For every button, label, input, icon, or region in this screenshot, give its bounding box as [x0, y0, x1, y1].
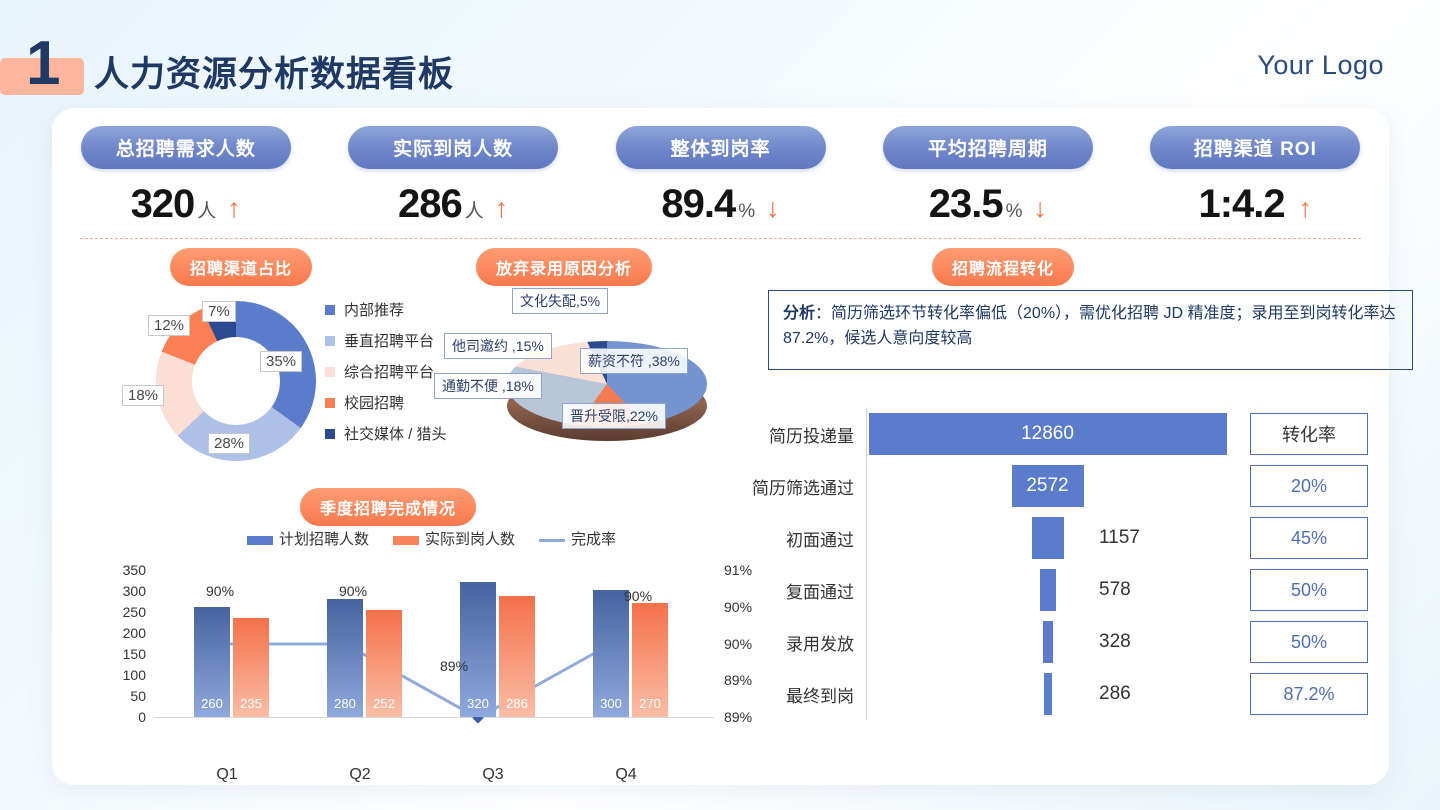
kpi-value-group: 89.4 % ↓	[661, 182, 779, 227]
header-number: 1	[26, 28, 58, 99]
x-tick-q2: Q2	[320, 766, 400, 784]
funnel-value: 328	[1099, 631, 1131, 653]
legend-item: 内部推荐	[325, 299, 447, 320]
legend-item-actual: 实际到岗人数	[393, 528, 515, 549]
kpi-value-group: 286 人 ↑	[398, 182, 508, 227]
funnel-value: 1157	[1099, 527, 1140, 549]
funnel-stage-label: 简历筛选通过	[748, 474, 866, 499]
x-tick-q1: Q1	[187, 766, 267, 784]
legend-item-plan: 计划招聘人数	[247, 528, 369, 549]
pie-label-commute: 通勤不便 ,18%	[434, 373, 542, 399]
funnel-row: 录用发放 328 50%	[748, 616, 1388, 668]
funnel-bar: 12860	[869, 413, 1227, 455]
funnel-rate: 87.2%	[1250, 673, 1368, 715]
trend-up-icon: ↑	[1299, 195, 1313, 222]
rate-label-q2: 90%	[339, 583, 367, 599]
bar-value: 260	[194, 696, 230, 711]
legend-swatch	[325, 367, 335, 377]
dashboard-card: 总招聘需求人数 320 人 ↑ 实际到岗人数 286 人 ↑ 整体到岗率 89.…	[52, 108, 1389, 785]
legend-label: 完成率	[571, 531, 616, 548]
bar-value: 252	[366, 696, 402, 711]
funnel-bar-area: 2572	[866, 460, 1228, 512]
funnel-row: 初面通过 1157 45%	[748, 512, 1388, 564]
bar-group-q3: 320 286	[460, 582, 535, 717]
rate-label-q1: 90%	[206, 583, 234, 599]
decline-reason-chart: 文化失配,5% 他司邀约 ,15% 通勤不便 ,18% 薪资不符 ,38% 晋升…	[452, 293, 782, 493]
funnel-bar-area: 578	[866, 564, 1228, 616]
bar-plan: 280	[327, 599, 363, 717]
donut-label-2: 18%	[122, 385, 164, 406]
bar-actual: 270	[632, 603, 668, 717]
legend-label: 计划招聘人数	[279, 531, 369, 548]
kpi-card-onboard-rate: 整体到岗率 89.4 % ↓	[587, 126, 854, 238]
legend-swatch	[325, 429, 335, 439]
legend-swatch	[325, 305, 335, 315]
kpi-value-group: 320 人 ↑	[131, 182, 241, 227]
kpi-unit: %	[1006, 201, 1023, 223]
kpi-label: 总招聘需求人数	[81, 126, 291, 169]
y2-tick: 89%	[724, 709, 752, 725]
legend-label: 垂直招聘平台	[344, 330, 434, 351]
analysis-prefix: 分析	[783, 305, 815, 322]
legend-item: 综合招聘平台	[325, 361, 447, 382]
funnel-bar: 2572	[1012, 465, 1084, 507]
bar-plot-area: 350 300 250 200 150 100 50 0 91% 90% 90%…	[154, 570, 714, 718]
funnel-row: 简历筛选通过 2572 20%	[748, 460, 1388, 512]
funnel-bar-area: 12860	[866, 408, 1228, 460]
section-title-decline-reason: 放弃录用原因分析	[476, 248, 652, 286]
legend-swatch	[393, 536, 419, 545]
bar-value: 286	[499, 696, 535, 711]
analysis-box: 分析：简历筛选环节转化率偏低（20%），需优化招聘 JD 精准度；录用至到岗转化…	[768, 290, 1413, 370]
quarterly-bar-chart: 计划招聘人数 实际到岗人数 完成率 350 300 250 200 150 10…	[112, 528, 772, 768]
donut-label-0: 35%	[260, 351, 302, 372]
bar-value: 300	[593, 696, 629, 711]
donut-label-1: 28%	[208, 433, 250, 454]
y-tick: 50	[108, 688, 146, 704]
kpi-card-channel-roi: 招聘渠道 ROI 1:4.2 ↑	[1122, 126, 1389, 238]
bar-value: 270	[632, 696, 668, 711]
kpi-divider	[80, 238, 1361, 239]
funnel-row: 复面通过 578 50%	[748, 564, 1388, 616]
pie-label-culture: 文化失配,5%	[512, 288, 608, 314]
bar-actual: 235	[233, 618, 269, 717]
legend-swatch	[247, 536, 273, 545]
y2-tick: 90%	[724, 636, 752, 652]
x-tick-q3: Q3	[453, 766, 533, 784]
funnel-value: 578	[1099, 579, 1131, 601]
trend-up-icon: ↑	[227, 195, 241, 222]
bar-plan: 260	[194, 607, 230, 717]
funnel-bar-area: 328	[866, 616, 1228, 668]
legend-label: 社交媒体 / 猎头	[344, 423, 447, 444]
funnel-rate: 50%	[1250, 569, 1368, 611]
bar-value: 235	[233, 696, 269, 711]
y-tick: 150	[108, 646, 146, 662]
logo: Your Logo	[1257, 50, 1384, 81]
donut-label-3: 12%	[148, 315, 190, 336]
section-title-channel-share: 招聘渠道占比	[170, 248, 312, 286]
kpi-value: 286	[398, 182, 462, 227]
y-tick: 200	[108, 625, 146, 641]
funnel-row: 最终到岗 286 87.2%	[748, 668, 1388, 720]
legend-item: 校园招聘	[325, 392, 447, 413]
pie-label-salary: 薪资不符 ,38%	[580, 348, 688, 374]
kpi-value: 320	[131, 182, 195, 227]
legend-line-marker	[539, 539, 565, 542]
funnel-bar-area: 286	[866, 668, 1228, 720]
x-tick-q4: Q4	[586, 766, 666, 784]
bar-plan: 320	[460, 582, 496, 717]
bar-group-q2: 280 252	[327, 599, 402, 717]
kpi-value: 23.5	[929, 182, 1003, 227]
kpi-value: 89.4	[661, 182, 735, 227]
funnel-bar	[1044, 673, 1052, 715]
kpi-unit: 人	[465, 196, 484, 223]
funnel-rate: 50%	[1250, 621, 1368, 663]
recruitment-funnel-chart: 简历投递量 12860 转化率 简历筛选通过 2572 20% 初面通过 115…	[748, 408, 1388, 763]
bar-group-q1: 260 235	[194, 607, 269, 717]
kpi-value-group: 23.5 % ↓	[929, 182, 1047, 227]
section-title-quarterly: 季度招聘完成情况	[300, 488, 476, 526]
kpi-value-group: 1:4.2 ↑	[1198, 182, 1312, 227]
y2-tick: 90%	[724, 599, 752, 615]
funnel-bar	[1043, 621, 1053, 663]
donut-legend: 内部推荐 垂直招聘平台 综合招聘平台 校园招聘 社交媒体 / 猎头	[325, 299, 447, 454]
funnel-bar	[1040, 569, 1056, 611]
y2-tick: 89%	[724, 672, 752, 688]
funnel-rate: 20%	[1250, 465, 1368, 507]
y2-tick: 91%	[724, 562, 752, 578]
legend-item: 社交媒体 / 猎头	[325, 423, 447, 444]
kpi-label: 实际到岗人数	[348, 126, 558, 169]
funnel-rate-header: 转化率	[1250, 413, 1368, 455]
funnel-value: 286	[1099, 683, 1131, 705]
kpi-label: 整体到岗率	[616, 126, 826, 169]
legend-label: 综合招聘平台	[344, 361, 434, 382]
y-tick: 100	[108, 667, 146, 683]
legend-label: 校园招聘	[344, 392, 404, 413]
bar-value: 320	[460, 696, 496, 711]
funnel-stage-label: 简历投递量	[748, 422, 866, 447]
legend-swatch	[325, 398, 335, 408]
funnel-bar	[1032, 517, 1064, 559]
trend-down-icon: ↓	[766, 195, 780, 222]
bar-chart-legend: 计划招聘人数 实际到岗人数 完成率	[247, 528, 616, 549]
bar-value: 280	[327, 696, 363, 711]
kpi-card-avg-cycle: 平均招聘周期 23.5 % ↓	[854, 126, 1121, 238]
bar-plan: 300	[593, 590, 629, 717]
donut-label-4: 7%	[202, 301, 236, 322]
y-tick: 0	[108, 709, 146, 725]
kpi-value: 1:4.2	[1198, 182, 1284, 227]
analysis-text: ：简历筛选环节转化率偏低（20%），需优化招聘 JD 精准度；录用至到岗转化率达…	[783, 305, 1396, 347]
pie-label-offer: 他司邀约 ,15%	[444, 333, 552, 359]
bar-actual: 286	[499, 596, 535, 717]
legend-label: 实际到岗人数	[425, 531, 515, 548]
bar-actual: 252	[366, 610, 402, 717]
legend-swatch	[325, 336, 335, 346]
rate-label-q3: 89%	[440, 658, 468, 674]
kpi-unit: 人	[197, 196, 216, 223]
trend-up-icon: ↑	[495, 195, 509, 222]
page-title: 人力资源分析数据看板	[94, 46, 454, 97]
funnel-rate: 45%	[1250, 517, 1368, 559]
pie-label-promotion: 晋升受限,22%	[562, 403, 666, 429]
kpi-label: 招聘渠道 ROI	[1150, 126, 1360, 169]
section-title-funnel: 招聘流程转化	[932, 248, 1074, 286]
legend-item-rate: 完成率	[539, 528, 616, 549]
y-tick: 250	[108, 604, 146, 620]
y-tick: 300	[108, 583, 146, 599]
funnel-bar-area: 1157	[866, 512, 1228, 564]
y-tick: 350	[108, 562, 146, 578]
legend-label: 内部推荐	[344, 299, 404, 320]
rate-label-q4: 90%	[624, 588, 652, 604]
kpi-label: 平均招聘周期	[883, 126, 1093, 169]
bar-group-q4: 300 270	[593, 590, 668, 717]
trend-down-icon: ↓	[1034, 195, 1048, 222]
kpi-row: 总招聘需求人数 320 人 ↑ 实际到岗人数 286 人 ↑ 整体到岗率 89.…	[52, 126, 1389, 238]
kpi-card-actual-onboard: 实际到岗人数 286 人 ↑	[319, 126, 586, 238]
legend-item: 垂直招聘平台	[325, 330, 447, 351]
kpi-card-total-demand: 总招聘需求人数 320 人 ↑	[52, 126, 319, 238]
funnel-row: 简历投递量 12860 转化率	[748, 408, 1388, 460]
kpi-unit: %	[738, 201, 755, 223]
